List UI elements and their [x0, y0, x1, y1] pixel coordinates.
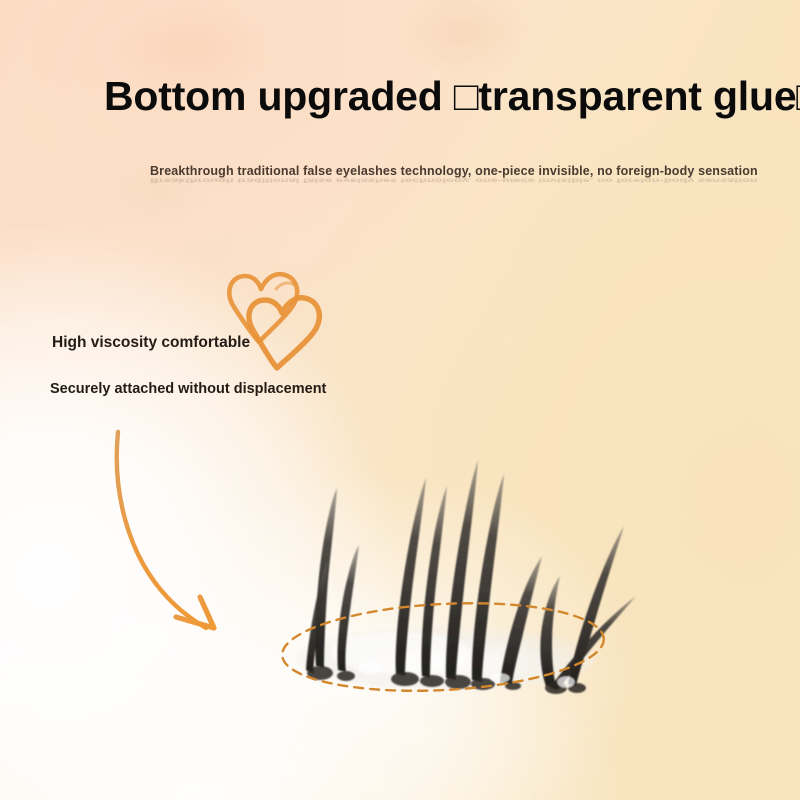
page-title: Bottom upgraded □transparent glue□ — [104, 74, 800, 119]
product-poster: Bottom upgraded □transparent glue□ Break… — [0, 0, 800, 800]
feature-label-attachment: Securely attached without displacement — [50, 381, 326, 397]
page-subtitle-reflection: Breakthrough traditional false eyelashes… — [150, 177, 758, 184]
eyelash-cluster-image — [250, 430, 670, 720]
page-subtitle: Breakthrough traditional false eyelashes… — [150, 164, 758, 178]
feature-label-viscosity: High viscosity comfortable — [52, 334, 250, 352]
